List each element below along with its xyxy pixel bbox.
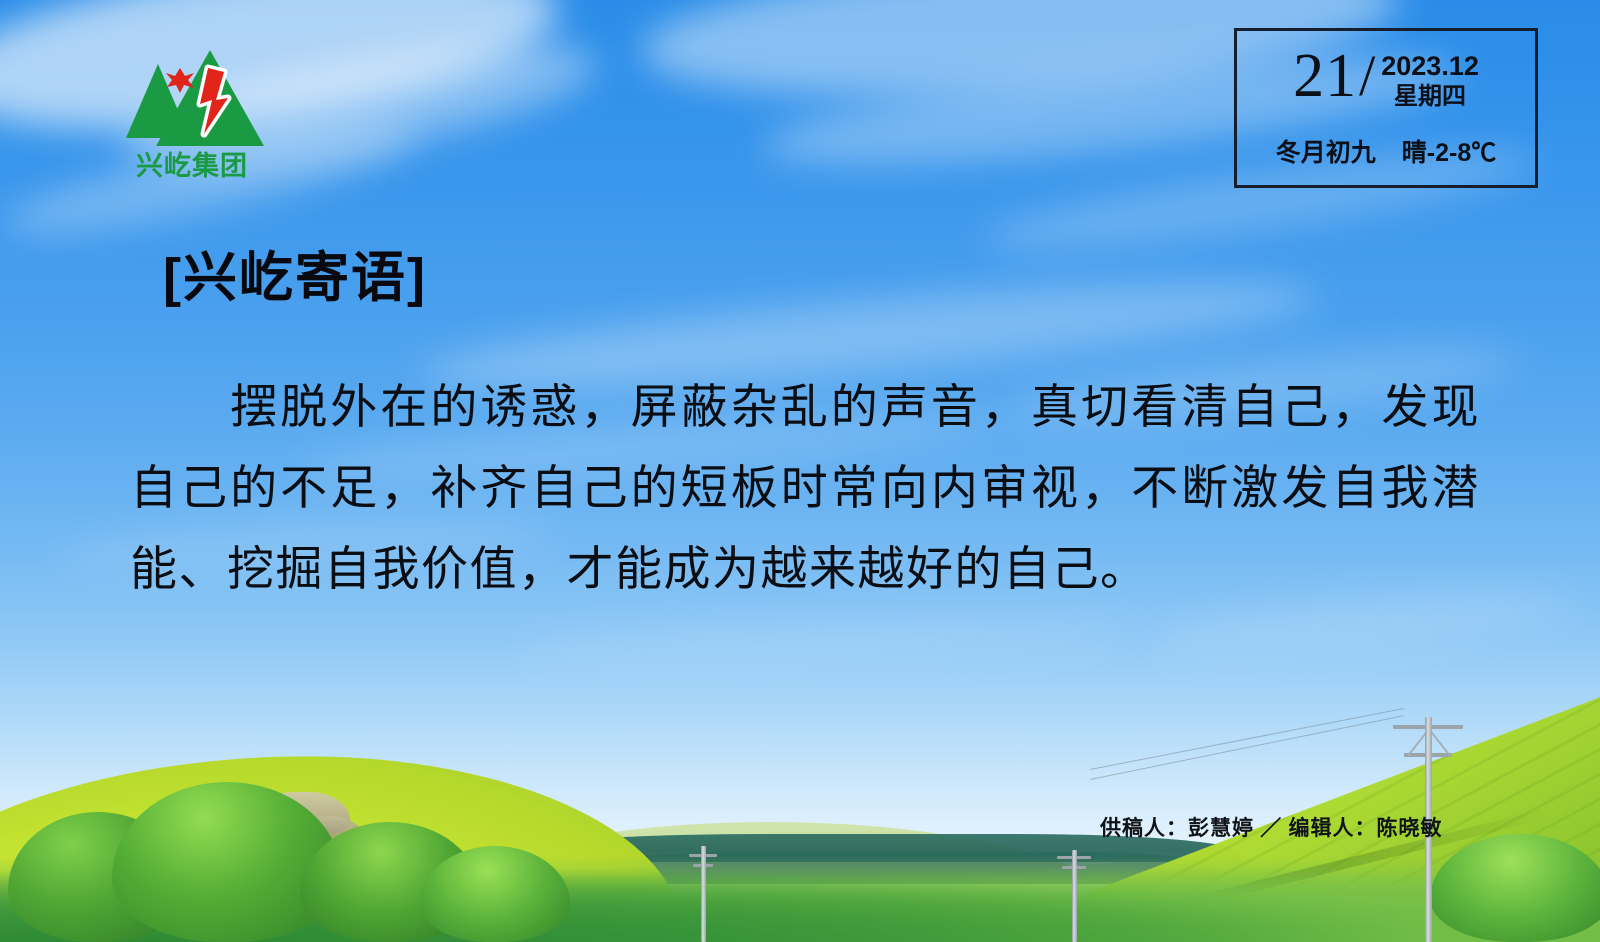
article-body: 摆脱外在的诱惑，屏蔽杂乱的声音，真切看清自己，发现自己的不足，补齐自己的短板时常… [130,368,1480,611]
date-weekday: 星期四 [1394,83,1466,111]
credits-line: 供稿人：彭慧婷 ／ 编辑人：陈晓敏 [1100,812,1443,842]
date-card: 21 / 2023.12 星期四 冬月初九 晴-2-8℃ [1234,28,1538,188]
utility-pole [1056,850,1092,942]
company-logo: 兴屹集团 [112,42,272,184]
pole-post [701,846,706,942]
body-paragraph: 摆脱外在的诱惑，屏蔽杂乱的声音，真切看清自己，发现自己的不足，补齐自己的短板时常… [130,368,1480,611]
logo-wordmark: 兴屹集团 [136,150,248,181]
utility-pole [688,846,718,942]
date-year-month: 2023.12 [1381,51,1479,81]
power-line [1090,715,1404,780]
mountain-lightning-logo-icon: 兴屹集团 [112,42,272,184]
cloud-streak [519,609,1140,671]
landscape-scene [0,672,1600,942]
date-year-weekday-group: 2023.12 星期四 [1381,45,1479,111]
poster-canvas: 兴屹集团 21 / 2023.12 星期四 冬月初九 晴-2-8℃ [兴屹寄语]… [0,0,1600,942]
date-card-top-row: 21 / 2023.12 星期四 [1237,45,1535,111]
page-title: [兴屹寄语] [163,248,427,308]
power-line [1090,708,1404,770]
date-day-number: 21 [1293,45,1357,107]
pole-post [1072,850,1077,942]
cloud-streak [0,0,567,157]
date-card-bottom-row: 冬月初九 晴-2-8℃ [1237,133,1535,169]
date-slash: / [1359,45,1375,107]
lunar-date: 冬月初九 [1276,133,1376,169]
weather-info: 晴-2-8℃ [1402,133,1496,169]
